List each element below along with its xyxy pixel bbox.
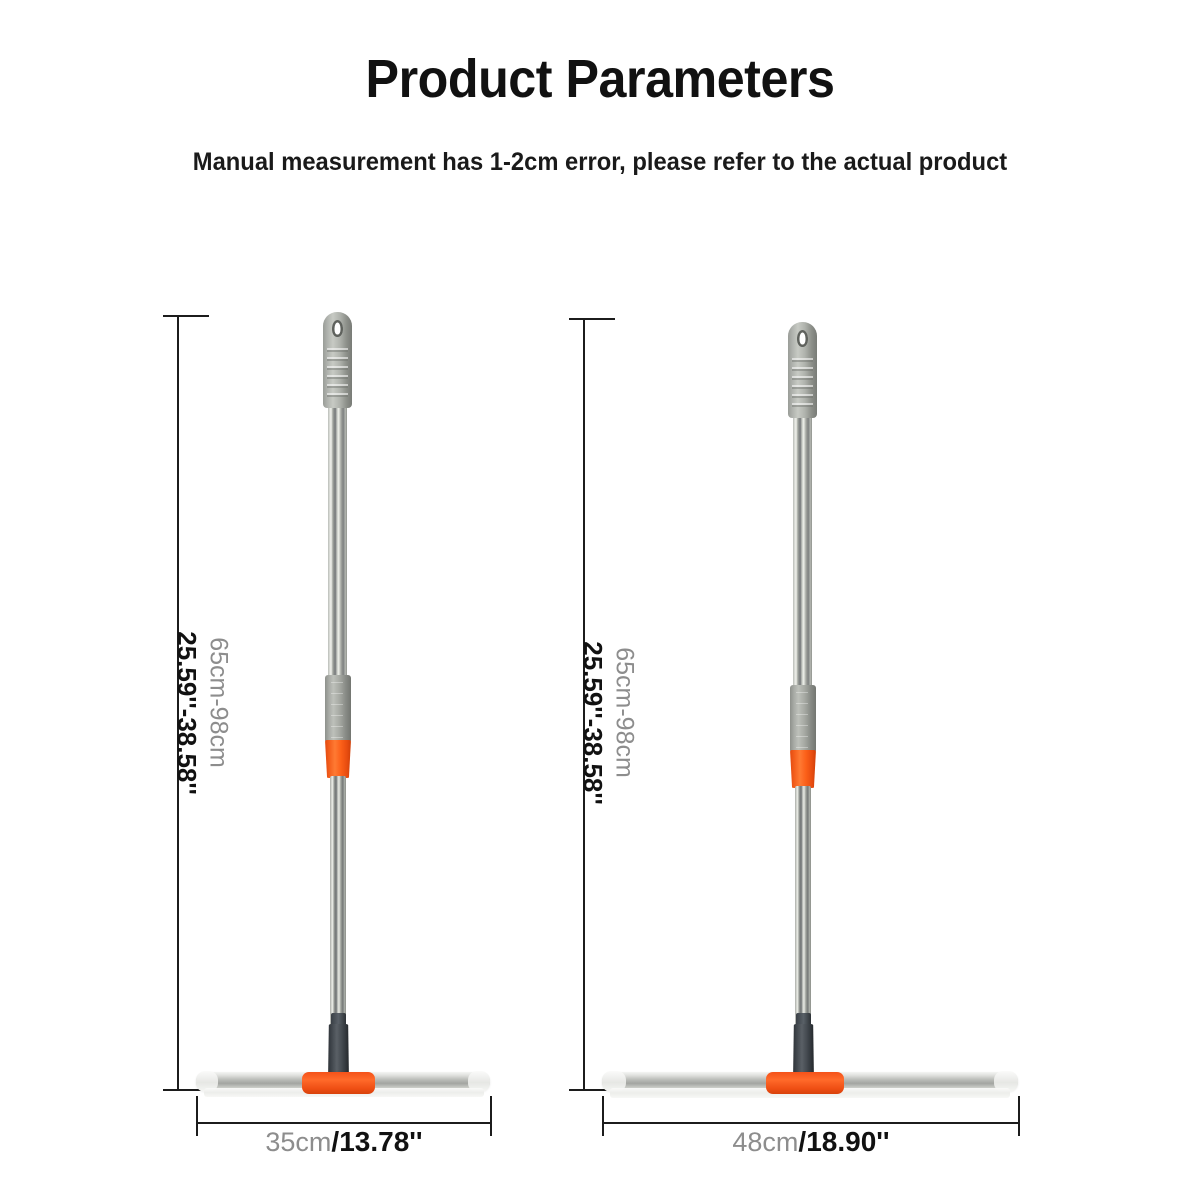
orange-lock-right — [790, 750, 816, 788]
height-dim-tick-top-left — [163, 315, 209, 317]
height-label-cm-right: 65cm-98cm — [612, 613, 637, 813]
adjust-collar-right — [790, 685, 816, 753]
width-dimension-line-left — [196, 1122, 492, 1124]
upper-pole-right — [793, 405, 812, 705]
grip-ridges-right — [792, 358, 813, 408]
orange-lock-left — [325, 740, 351, 778]
hanging-hole-left — [332, 320, 343, 337]
height-label-inch-left: 25.59''-38.58'' — [174, 603, 200, 823]
grip-ridges-left — [327, 348, 348, 398]
page-title: Product Parameters — [42, 48, 1158, 110]
width-label-left: 35cm/13.78'' — [196, 1128, 492, 1156]
collar-ridges-left — [331, 682, 343, 739]
upper-pole-left — [328, 395, 347, 695]
width-dimension-line-right — [602, 1122, 1020, 1124]
head-orange-block-left — [302, 1072, 375, 1094]
height-label-inch-right: 25.59''-38.58'' — [580, 613, 606, 833]
product-parameters-diagram: Product Parameters Manual measurement ha… — [0, 0, 1200, 1200]
lower-pole-left — [330, 776, 346, 1038]
page-subtitle: Manual measurement has 1-2cm error, plea… — [30, 148, 1170, 177]
adjust-collar-left — [325, 675, 351, 743]
hanging-hole-right — [797, 330, 808, 347]
height-label-cm-left: 65cm-98cm — [206, 603, 231, 803]
width-label-right: 48cm/18.90'' — [602, 1128, 1020, 1156]
height-dim-tick-top-right — [569, 318, 615, 320]
head-orange-block-right — [766, 1072, 844, 1094]
handle-grip-right — [788, 322, 817, 418]
lower-pole-right — [795, 786, 811, 1038]
collar-ridges-right — [796, 692, 808, 749]
handle-grip-left — [323, 312, 352, 408]
